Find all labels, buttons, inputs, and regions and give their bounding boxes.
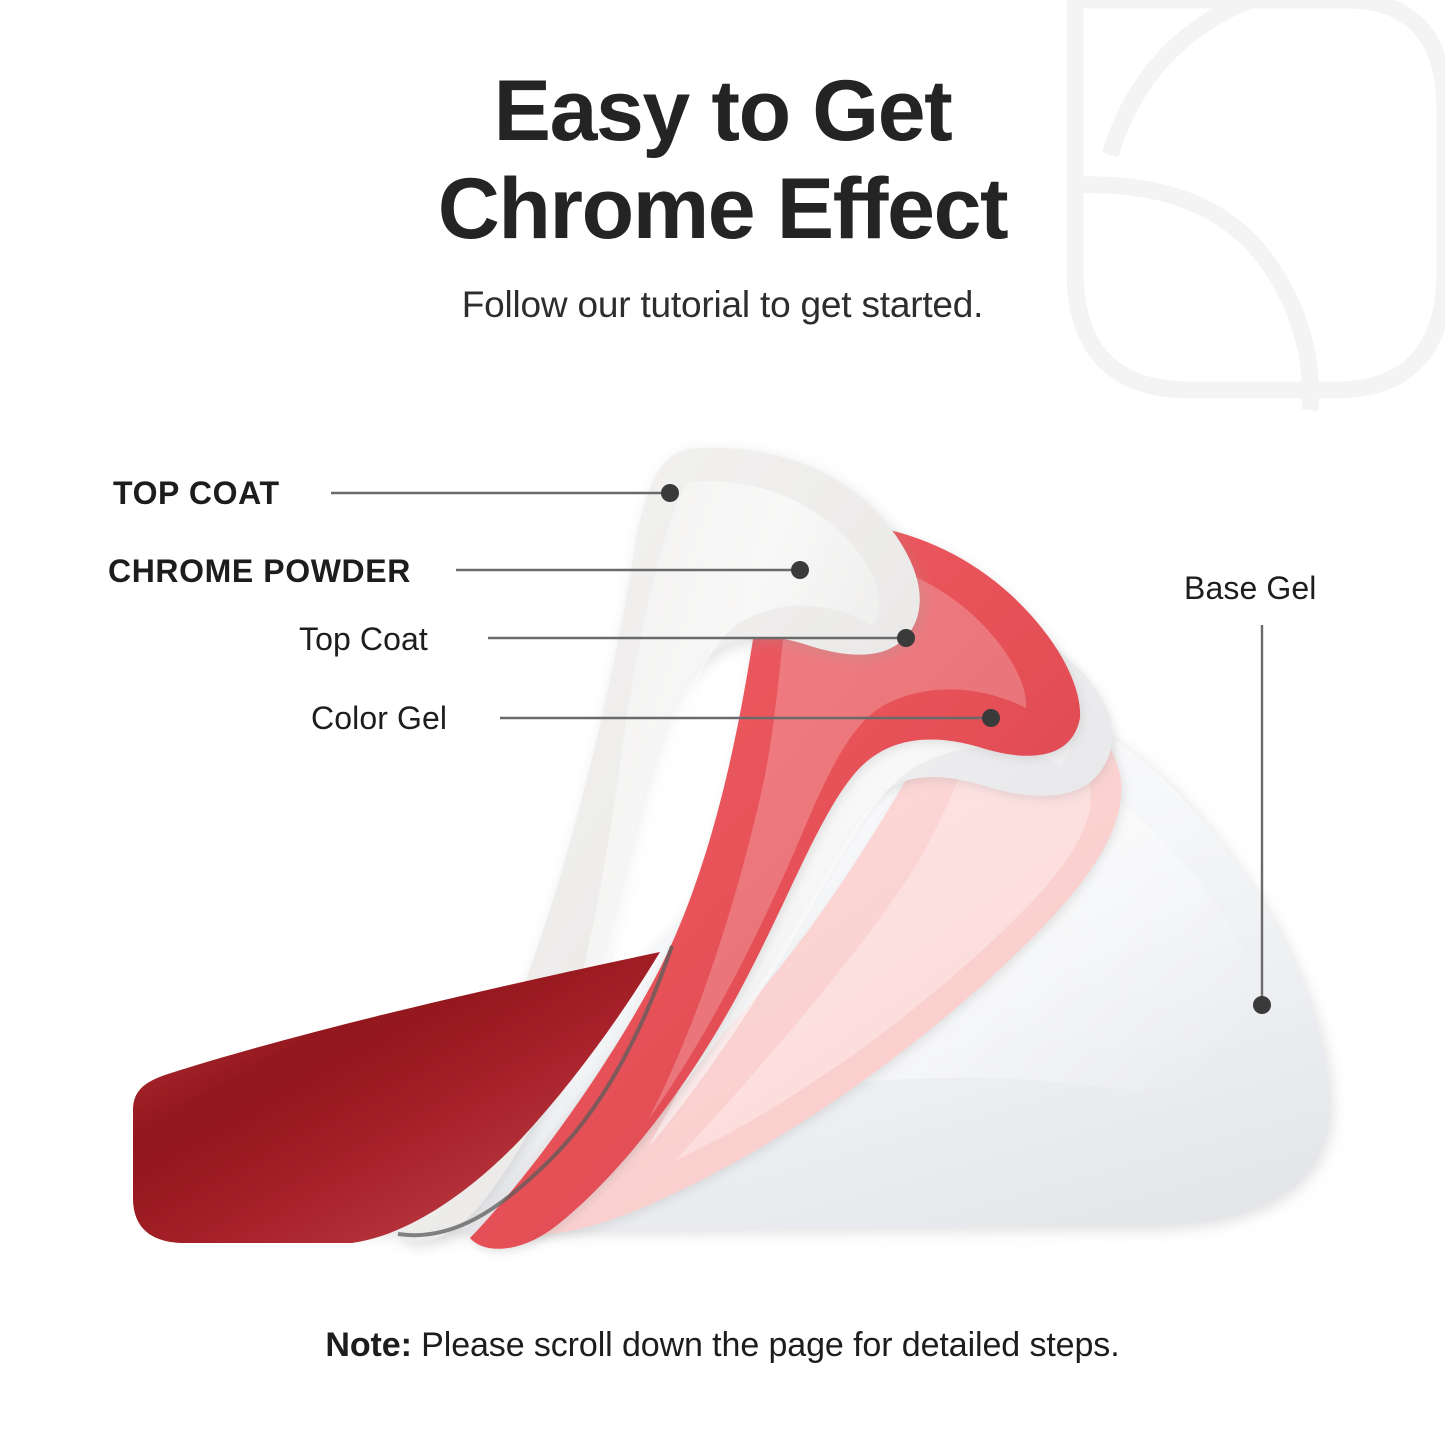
footer-note-body: Please scroll down the page for detailed… — [412, 1326, 1120, 1364]
label-color-gel: Color Gel — [311, 700, 447, 737]
leader-dot-top-coat — [897, 629, 915, 647]
footer-note-prefix: Note: — [325, 1326, 411, 1364]
footer-note: Note: Please scroll down the page for de… — [0, 1326, 1445, 1365]
nail-layers-illustration — [0, 0, 1445, 1445]
leader-dot-color-gel — [982, 709, 1000, 727]
label-top-coat-strong: TOP COAT — [113, 475, 280, 512]
leader-dot-base-gel — [1253, 996, 1271, 1014]
leader-dot-top-coat-strong — [661, 484, 679, 502]
leader-dot-chrome-powder — [791, 561, 809, 579]
label-base-gel: Base Gel — [1184, 570, 1316, 607]
page-root: Easy to Get Chrome Effect Follow our tut… — [0, 0, 1445, 1445]
label-chrome-powder: CHROME POWDER — [108, 553, 411, 590]
label-top-coat: Top Coat — [299, 621, 428, 658]
